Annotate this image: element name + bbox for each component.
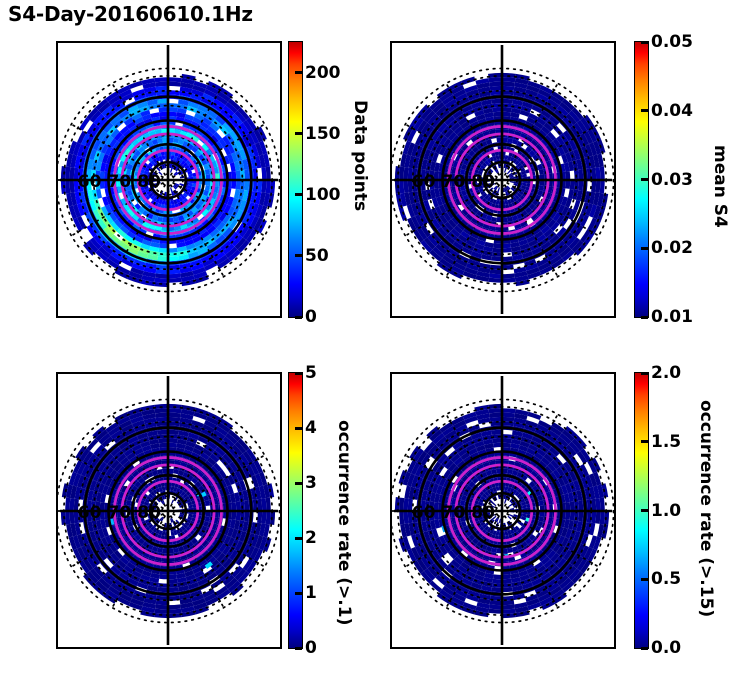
ctick-label: 0 — [305, 638, 317, 658]
colorbar-label-mean-s4: mean S4 — [710, 145, 730, 228]
ctick-label: 50 — [305, 246, 329, 266]
ctick-dash — [295, 647, 302, 650]
ctick-dash — [295, 316, 302, 319]
ctick-dash — [295, 482, 302, 485]
polar-canvas-2: 607080 — [392, 43, 614, 316]
polar-plot-mean-s4: 607080 — [392, 43, 614, 316]
latitude-tick-label: 80 — [471, 172, 495, 192]
latitude-tick-label: 70 — [442, 503, 466, 523]
ctick-label: 0.05 — [651, 32, 693, 52]
ctick-dash — [295, 372, 302, 375]
ctick-label: 3 — [305, 473, 317, 493]
ctick-dash — [295, 254, 302, 257]
polar-plot-data-points: 607080 — [58, 43, 280, 316]
ctick-label: 0.02 — [651, 238, 693, 258]
ctick-label: 2 — [305, 528, 317, 548]
polar-canvas-3: 607080 — [58, 374, 280, 647]
occurrence-rate-gt-point-one-panel: 607080 — [56, 372, 282, 649]
figure-root: S4-Day-20160610.1Hz 607080 0 50 100 150 … — [0, 0, 731, 674]
ctick-label: 0.5 — [651, 569, 681, 589]
ctick-dash — [295, 132, 302, 135]
colorbar-ticks-occ-15: 0.0 0.5 1.0 1.5 2.0 — [648, 373, 731, 648]
ctick-dash — [641, 509, 648, 512]
latitude-tick-labels: 607080 — [78, 172, 161, 192]
ctick-label: 200 — [305, 63, 341, 83]
ctick-dash — [641, 372, 648, 375]
ctick-label: 100 — [305, 185, 341, 205]
latitude-tick-labels: 607080 — [78, 503, 161, 523]
ctick-label: 0.04 — [651, 101, 693, 121]
latitude-tick-labels: 607080 — [412, 172, 495, 192]
latitude-tick-label: 80 — [471, 503, 495, 523]
mean-s4-panel: 607080 — [390, 41, 616, 318]
data-points-panel: 607080 — [56, 41, 282, 318]
colorbar-gradient-data-points — [289, 42, 302, 317]
ctick-label: 5 — [305, 363, 317, 383]
latitude-tick-label: 70 — [108, 172, 132, 192]
ctick-label: 0 — [305, 307, 317, 327]
occurrence-rate-gt-point-one-five-panel: 607080 — [390, 372, 616, 649]
colorbar-label-occ-1: occurrence rate (>.1) — [334, 420, 354, 625]
ctick-dash — [295, 427, 302, 430]
colorbar-occ-1: 0 1 2 3 4 5 — [288, 372, 303, 649]
colorbar-label-data-points: Data points — [350, 100, 370, 211]
ctick-label: 2.0 — [651, 363, 681, 383]
latitude-tick-label: 70 — [108, 503, 132, 523]
latitude-tick-label: 60 — [412, 503, 436, 523]
colorbar-occ-15: 0.0 0.5 1.0 1.5 2.0 — [634, 372, 649, 649]
ctick-dash — [641, 109, 648, 112]
ctick-dash — [641, 647, 648, 650]
ctick-label: 1 — [305, 583, 317, 603]
latitude-tick-labels: 607080 — [412, 503, 495, 523]
polar-plot-occ-15: 607080 — [392, 374, 614, 647]
colorbar-label-occ-15: occurrence rate (>.15) — [696, 400, 716, 617]
ctick-label: 0.03 — [651, 170, 693, 190]
ctick-dash — [641, 316, 648, 319]
ctick-label: 4 — [305, 418, 317, 438]
ctick-label: 1.5 — [651, 432, 681, 452]
latitude-tick-label: 60 — [412, 172, 436, 192]
latitude-tick-label: 60 — [78, 172, 102, 192]
polar-plot-occ-1: 607080 — [58, 374, 280, 647]
ctick-dash — [641, 41, 648, 44]
ctick-dash — [641, 578, 648, 581]
colorbar-gradient-occ-1 — [289, 373, 302, 648]
ctick-dash — [641, 247, 648, 250]
ctick-dash — [295, 537, 302, 540]
latitude-tick-label: 80 — [137, 172, 161, 192]
latitude-tick-label: 80 — [137, 503, 161, 523]
ctick-dash — [295, 71, 302, 74]
ctick-label: 0.01 — [651, 307, 693, 327]
ctick-label: 1.0 — [651, 501, 681, 521]
ctick-dash — [295, 592, 302, 595]
ctick-dash — [641, 440, 648, 443]
colorbar-data-points: 0 50 100 150 200 — [288, 41, 303, 318]
colorbar-mean-s4: 0.01 0.02 0.03 0.04 0.05 — [634, 41, 649, 318]
figure-title: S4-Day-20160610.1Hz — [8, 2, 253, 26]
ctick-dash — [641, 178, 648, 181]
latitude-tick-label: 70 — [442, 172, 466, 192]
ctick-label: 150 — [305, 124, 341, 144]
polar-canvas-1: 607080 — [58, 43, 280, 316]
ctick-dash — [295, 193, 302, 196]
latitude-tick-label: 60 — [78, 503, 102, 523]
ctick-label: 0.0 — [651, 638, 681, 658]
polar-canvas-4: 607080 — [392, 374, 614, 647]
